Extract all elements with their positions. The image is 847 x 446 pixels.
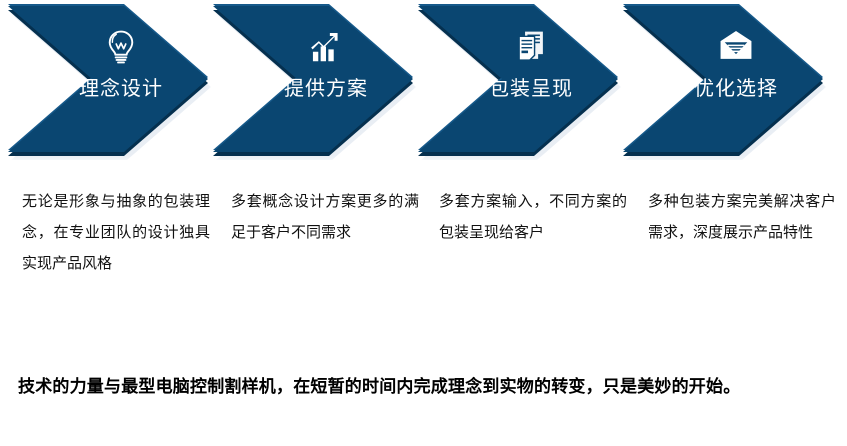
process-step-description-row: 无论是形象与抽象的包装理念，在专业团队的设计独具实现产品风格 多套概念设计方案更… bbox=[0, 186, 847, 336]
process-step-description-3: 多套方案输入，不同方案的包装呈现给客户 bbox=[439, 186, 627, 248]
process-step-2[interactable]: 提供方案 bbox=[213, 4, 413, 154]
chevron-face bbox=[213, 6, 413, 152]
process-step-chevron-row: 理念设计 提供方案 bbox=[0, 0, 847, 170]
chevron-face bbox=[8, 6, 208, 152]
chevron-face bbox=[418, 6, 618, 152]
process-step-description-4: 多种包装方案完美解决客户需求，深度展示产品特性 bbox=[648, 186, 836, 248]
process-step-1[interactable]: 理念设计 bbox=[8, 4, 208, 154]
process-step-description-2: 多套概念设计方案更多的满足于客户不同需求 bbox=[231, 186, 419, 248]
footer-highlight-text: 技术的力量与最型电脑控制割样机，在短暂的时间内完成理念到实物的转变，只是美妙的开… bbox=[18, 371, 838, 403]
process-step-4[interactable]: 优化选择 bbox=[623, 4, 823, 154]
process-step-3[interactable]: 包装呈现 bbox=[418, 4, 618, 154]
chevron-face bbox=[623, 6, 823, 152]
process-step-description-1: 无论是形象与抽象的包装理念，在专业团队的设计独具实现产品风格 bbox=[22, 186, 210, 279]
